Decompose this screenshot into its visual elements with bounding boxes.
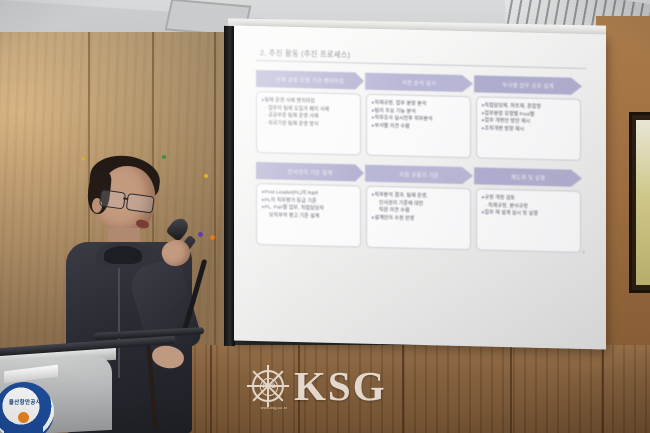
bullet-list: 규정 개정 검토직제규정, 분사규정업무 재 설계 실시 및 실행 [482,195,576,220]
emblem-bar [4,422,13,433]
wainscot-seam [210,345,212,433]
presentation-slide: 2. 추진 활동 (추진 프로세스) 단체 공정 모델 기관 벤치마킹 사전 분… [256,48,588,328]
chevron-step: 제도화 및 실행 [474,167,582,187]
chevron-step: 인사관리 기준 설계 [256,162,364,182]
bullet-list: 팀제 운영 사례 벤치마킹업무의 팀제 도입과 폐지 사례공공부문 팀제 운영 … [262,97,356,130]
glasses-lens-left [99,189,126,209]
bullet-list: 직접담당제, 파트제, 혼합형업무분장 유형별 Pool별업무 개편안 방안 제… [482,103,576,136]
bullet-card: Post Leader(PL)의 R&RPL의 직무평가 등급 기준PL, Pa… [256,183,361,248]
bullet-card: 규정 개정 검토직제규정, 분사규정업무 재 설계 실시 및 실행 [476,188,581,253]
emblem-sun-icon [18,412,29,423]
process-row: 인사관리 기준 설계 직원 공통의 기준 제도화 및 실행 Post Leade… [256,162,588,253]
bullet-card: 직접담당제, 파트제, 혼합형업무분장 유형별 Pool별업무 개편안 방안 제… [476,96,581,161]
ksg-watermark: KSG www.ksg.co.kr KSG [248,358,414,414]
wainscot-seam [602,345,604,433]
chevron-label: 제도화 및 실행 [511,173,545,182]
wall-dot-sticker [210,235,215,240]
watermark-url: www.ksg.co.kr [252,406,296,410]
projection-screen: 2. 추진 활동 (추진 프로세스) 단체 공정 모델 기관 벤치마킹 사전 분… [234,25,606,349]
slide-page-number: 7 [582,250,585,255]
jacket-zipper [118,268,120,378]
bullet-list: 직제규정, 업무 분장 분석팀의 주요 기능 분석직무조사 실시전후 직무분석부… [372,100,466,133]
bullet-item: 보직부여 평고 기준 설계 [262,212,356,222]
chevron-label: 부서별 업무 공유 설계 [502,81,554,90]
wainscot-seam [510,345,512,433]
watermark-brand: KSG [294,366,387,407]
jacket-collar-inner [104,246,142,264]
bullet-card: 직무분석 결과, 팀제 운영,인사관리 기준에 대한직원 의견 수렴설계안의 수… [366,186,471,251]
framed-picture [629,112,650,293]
emblem-label: 울산항만공사 [2,398,48,406]
wall-dot-sticker [204,174,208,178]
emblem-bar [34,422,43,433]
ship-wheel-icon: KSG www.ksg.co.kr [248,366,288,406]
chevron-label: 사전 분석 실시 [402,78,436,87]
chevron-step: 직원 공통의 기준 [365,165,473,185]
chevron-label: 인사관리 기준 설계 [288,167,333,176]
chevron-step: 단체 공정 모델 기관 벤치마킹 [256,70,364,90]
bullet-item: 조직개편 방향 제시 [482,125,576,135]
frame-inner [636,120,650,285]
bullet-card: 직제규정, 업무 분장 분석팀의 주요 기능 분석직무조사 실시전후 직무분석부… [366,94,471,159]
bullet-item: 설계안의 수정 반영 [372,215,466,225]
bullet-card-row: Post Leader(PL)의 R&RPL의 직무평가 등급 기준PL, Pa… [256,183,588,253]
glasses-lens-right [126,193,155,214]
chevron-label: 직원 공통의 기준 [399,170,439,179]
bullet-list: 직무분석 결과, 팀제 운영,인사관리 기준에 대한직원 의견 수렴설계안의 수… [372,192,466,225]
bullet-card: 팀제 운영 사례 벤치마킹업무의 팀제 도입과 폐지 사례공공부문 팀제 운영 … [256,91,361,156]
bullet-card-row: 팀제 운영 사례 벤치마킹업무의 팀제 도입과 폐지 사례공공부문 팀제 운영 … [256,91,588,161]
bullet-list: Post Leader(PL)의 R&RPL의 직무평가 등급 기준PL, Pa… [262,189,356,222]
conference-room-scene: 2. 추진 활동 (추진 프로세스) 단체 공정 모델 기관 벤치마킹 사전 분… [0,0,650,433]
chevron-step: 부서별 업무 공유 설계 [474,75,582,95]
process-row: 단체 공정 모델 기관 벤치마킹 사전 분석 실시 부서별 업무 공유 설계 팀… [256,70,588,161]
chevron-step: 사전 분석 실시 [365,73,473,93]
bullet-item: 외국기관 팀제 운영 방식 [262,120,356,130]
chevron-label: 단체 공정 모델 기관 벤치마킹 [276,75,345,85]
bullet-item: 업무 재 설계 실시 및 실행 [482,210,576,220]
bullet-item: 부서별 의견 수렴 [372,123,466,133]
